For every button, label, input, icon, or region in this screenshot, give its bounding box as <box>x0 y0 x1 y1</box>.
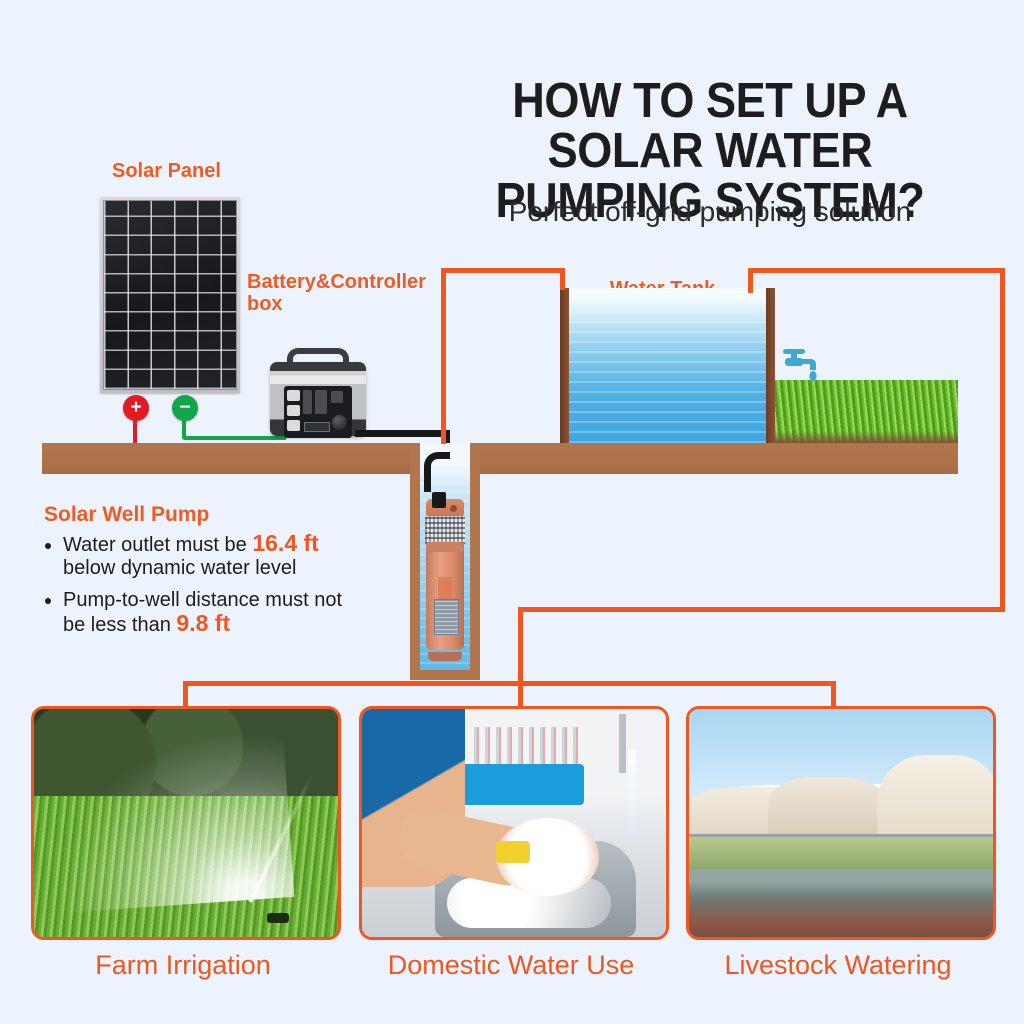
well-wall-right <box>470 443 480 680</box>
pipe-drop-domestic <box>518 681 523 708</box>
pump-stripe <box>438 577 452 599</box>
trough-water <box>689 837 993 869</box>
tank-water <box>569 288 766 443</box>
list-item: Pump-to-well distance must not be less t… <box>63 589 364 637</box>
fence-rail <box>689 834 993 837</box>
pump-info-list: Water outlet must be 16.4 ft below dynam… <box>44 532 364 637</box>
ground-left <box>42 443 410 474</box>
bullet-1-text-before: Water outlet must be <box>63 534 252 556</box>
pump-label-plate <box>434 599 459 635</box>
faucet-icon <box>779 345 825 391</box>
battery-controller-label: Battery&Controller box <box>247 271 447 315</box>
application-card-irrigation[interactable] <box>31 706 341 940</box>
solar-cell-grid <box>103 200 237 390</box>
page-subtitle: Perfect off-grid pumping solution <box>420 196 1000 228</box>
pipe-into-tank <box>560 268 565 290</box>
power-station-display <box>304 422 330 432</box>
pipe-application-branch <box>183 681 836 686</box>
power-station-front-panel <box>284 386 352 438</box>
application-card-livestock[interactable] <box>686 706 996 940</box>
pump-info-title: Solar Well Pump <box>44 503 364 527</box>
outlet-icon <box>287 420 300 431</box>
application-caption-irrigation: Farm Irrigation <box>31 950 335 981</box>
solar-well-pump-graphic <box>425 499 465 661</box>
port-group-icon <box>315 390 327 414</box>
pipe-bottom-run <box>518 607 1005 612</box>
pipe-drop-irrigation <box>183 681 188 708</box>
solar-panel-graphic <box>100 197 240 393</box>
well-bottom <box>410 670 480 680</box>
running-water <box>628 750 636 841</box>
pipe-well-riser <box>441 268 446 444</box>
port-icon <box>331 391 343 403</box>
pump-cable-curve <box>424 452 450 492</box>
pipe-top-run-right <box>748 268 1005 273</box>
outlet-icon <box>287 390 300 401</box>
kitchen-tap <box>619 714 626 773</box>
pump-intake-mesh <box>425 516 465 544</box>
bullet-1-text-after: below dynamic water level <box>63 557 296 579</box>
outlet-icon <box>287 405 300 416</box>
application-card-domestic[interactable] <box>359 706 669 940</box>
pump-foot <box>428 652 462 661</box>
battery-controller-box-graphic <box>270 348 366 448</box>
farm-irrigation-photo <box>34 709 338 937</box>
bullet-1-value: 16.4 ft <box>252 530 318 556</box>
power-station-dial <box>332 415 347 430</box>
solar-panel-label: Solar Panel <box>112 160 221 183</box>
pipe-top-run-left <box>441 268 565 273</box>
bullet-2-value: 9.8 ft <box>176 610 230 636</box>
dish-rack <box>462 764 584 805</box>
pipe-right-downcomer <box>1000 268 1005 612</box>
infographic-canvas: HOW TO SET UP A SOLAR WATER PUMPING SYST… <box>0 0 1024 1024</box>
pipe-center-downcomer <box>518 607 523 684</box>
sponge <box>496 841 530 863</box>
pump-lifting-ring <box>450 505 457 512</box>
water-tank-graphic <box>560 288 775 443</box>
list-item: Water outlet must be 16.4 ft below dynam… <box>63 532 364 580</box>
domestic-water-use-photo <box>362 709 666 937</box>
application-caption-livestock: Livestock Watering <box>686 950 990 981</box>
pipe-drop-livestock <box>831 681 836 708</box>
ground-right <box>480 443 958 474</box>
sprinkler-head <box>267 913 289 923</box>
port-group-icon <box>303 390 312 414</box>
stacked-plates <box>468 727 584 768</box>
tank-post-left <box>560 288 569 443</box>
water-trough <box>689 869 993 937</box>
solar-well-pump-info: Solar Well Pump Water outlet must be 16.… <box>44 503 364 646</box>
power-station-body <box>270 362 366 436</box>
livestock-watering-photo <box>689 709 993 937</box>
well-wall-left <box>410 443 420 680</box>
pump-collar <box>426 542 464 552</box>
tank-post-right <box>766 288 775 443</box>
pump-cable-plug <box>432 492 446 508</box>
application-caption-domestic: Domestic Water Use <box>359 950 663 981</box>
